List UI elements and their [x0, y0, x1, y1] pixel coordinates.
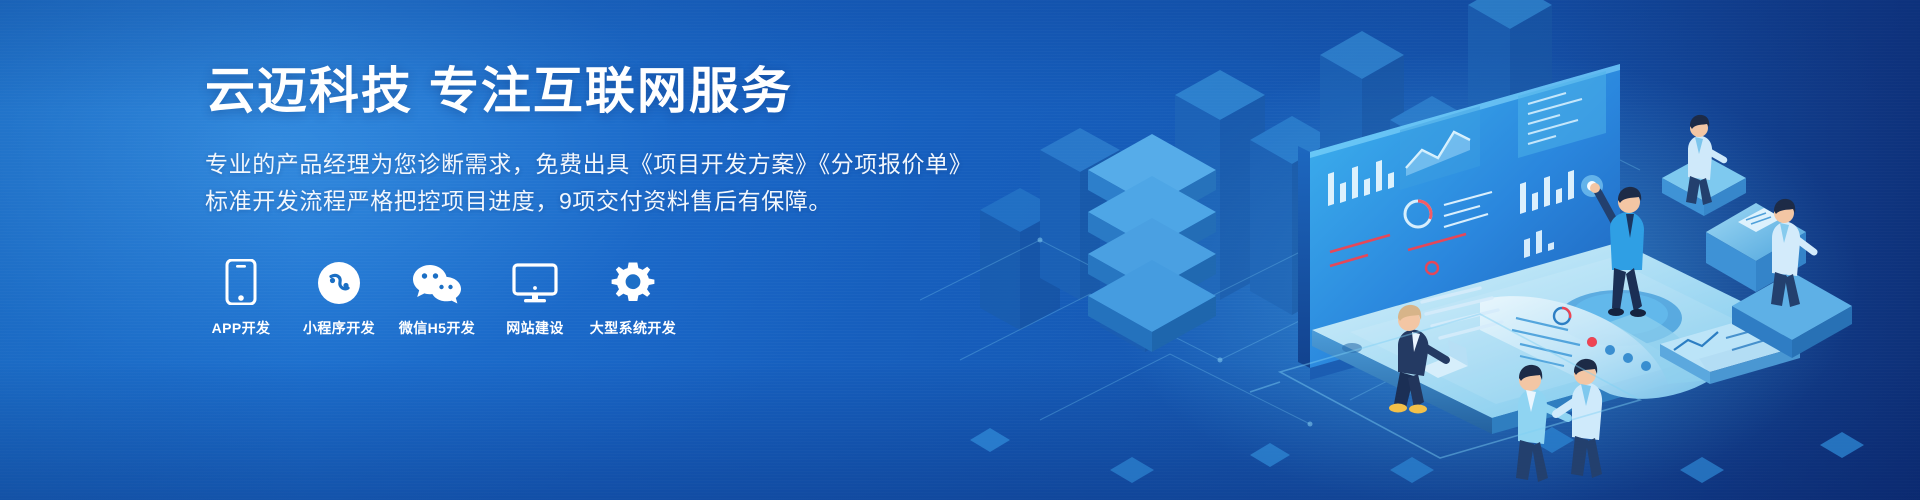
promo-banner: 云迈科技 专注互联网服务 专业的产品经理为您诊断需求，免费出具《项目开发方案》《… [0, 0, 1920, 500]
service-item-system[interactable]: 大型系统开发 [597, 259, 669, 338]
banner-subtitle-line-1: 专业的产品经理为您诊断需求，免费出具《项目开发方案》《分项报价单》 [205, 146, 965, 183]
isometric-illustration [920, 0, 1920, 500]
service-label-website: 网站建设 [506, 318, 564, 338]
service-label-system: 大型系统开发 [590, 318, 676, 338]
service-item-website[interactable]: 网站建设 [499, 259, 571, 338]
service-item-app[interactable]: APP开发 [205, 259, 277, 338]
service-item-wechat[interactable]: 微信H5开发 [401, 259, 473, 338]
mobile-phone-icon [224, 259, 258, 305]
service-icon-row: APP开发 小程序开发 [205, 259, 965, 338]
service-label-miniprogram: 小程序开发 [303, 318, 375, 338]
service-item-miniprogram[interactable]: 小程序开发 [303, 259, 375, 338]
mini-program-icon [317, 259, 361, 305]
gear-icon [610, 259, 656, 305]
service-label-app: APP开发 [212, 318, 271, 338]
service-label-wechat: 微信H5开发 [399, 318, 475, 338]
banner-headline: 云迈科技 专注互联网服务 [205, 62, 965, 120]
wechat-icon [412, 259, 462, 305]
monitor-icon [512, 259, 558, 305]
banner-subtitle-line-2: 标准开发流程严格把控项目进度，9项交付资料售后有保障。 [205, 183, 965, 220]
banner-content: 云迈科技 专注互联网服务 专业的产品经理为您诊断需求，免费出具《项目开发方案》《… [205, 62, 965, 338]
